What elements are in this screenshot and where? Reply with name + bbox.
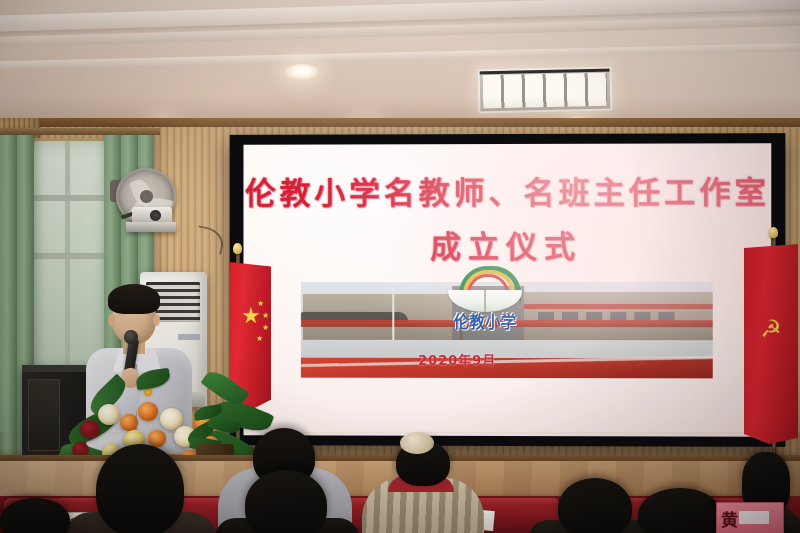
flag-star-small: ★ [262, 324, 269, 332]
projection-screen: 伦教小学名教师、名班主任工作室 成立仪式 [243, 143, 771, 437]
slide-subtitle: 成立仪式 [243, 222, 771, 267]
slide-date: 2020年9月 [418, 350, 496, 369]
flag-star-small: ★ [262, 312, 269, 320]
audience-member-head [558, 478, 632, 533]
projector-shelf [126, 222, 176, 232]
name-placard: 黄 [716, 502, 784, 533]
flag-star-small: ★ [256, 335, 263, 343]
ceiling-downlight [285, 64, 319, 80]
communist-party-flag: ☭ [744, 244, 798, 444]
hammer-and-sickle-icon: ☭ [758, 314, 784, 344]
microphone-head [124, 330, 138, 344]
school-emblem: 伦教小学 [442, 266, 528, 338]
curtain-rod [0, 128, 160, 135]
audience-member-head [638, 488, 722, 533]
ceiling [0, 0, 800, 132]
flower-bloom [120, 414, 138, 431]
flag-star-large: ★ [241, 306, 261, 328]
speaker-ear [153, 314, 160, 326]
projection-screen-frame: 伦教小学名教师、名班主任工作室 成立仪式 [230, 133, 786, 447]
flower-bloom [138, 402, 158, 421]
fan-hub [140, 190, 153, 203]
ceiling-soffit-band [0, 42, 800, 70]
foliage-leaf [135, 368, 171, 391]
photo-flagpole [392, 288, 394, 342]
party-flag-finial [769, 227, 778, 238]
china-flag-finial [233, 243, 242, 254]
flag-star-small: ★ [257, 300, 264, 308]
speaker-hair [108, 284, 160, 314]
flower-bloom [98, 404, 120, 425]
photo-balcony-band [524, 304, 713, 309]
projector-lens [150, 210, 161, 221]
window-frame-vertical [65, 141, 70, 391]
auditorium-ceremony-photo: 伦教小学名教师、名班主任工作室 成立仪式 [0, 0, 800, 533]
audience-member-hair-scrunchie [400, 432, 434, 454]
emblem-school-name: 伦教小学 [449, 304, 521, 336]
audience-member-head [245, 470, 327, 533]
speaker-ear [108, 314, 115, 326]
slide-title: 伦教小学名教师、名班主任工作室 [243, 167, 771, 213]
audience-member-head [96, 444, 184, 533]
